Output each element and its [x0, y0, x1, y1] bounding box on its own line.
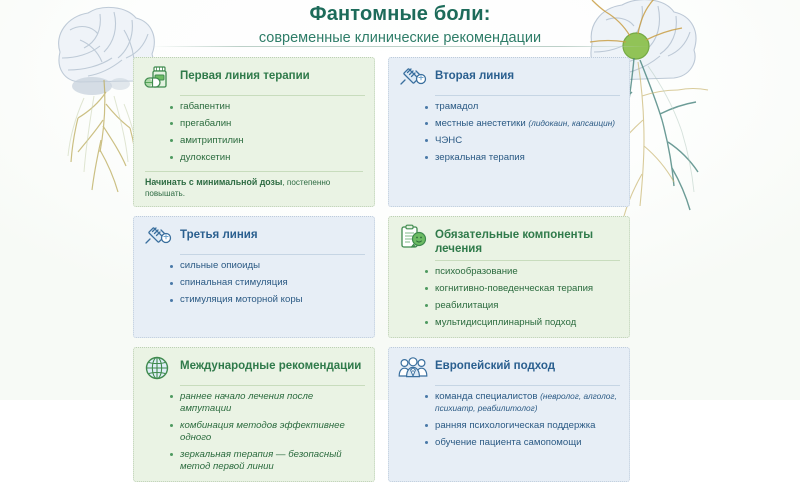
card-title: Третья линия	[180, 224, 258, 242]
card-note: Начинать с минимальной дозы, постепенно …	[143, 177, 365, 198]
list-item: местные анестетики (лидокаин, капсаицин)	[425, 118, 620, 130]
list-item: обучение пациента самопомощи	[425, 437, 620, 449]
list-item: стимуляция моторной коры	[170, 294, 365, 306]
card-title-divider	[435, 95, 620, 96]
card-item-list: раннее начало лечения после ампутации ко…	[143, 391, 365, 473]
card-item-list: команда специалистов (невролог, алголог,…	[398, 391, 620, 449]
card-title-divider	[435, 385, 620, 386]
globe-icon	[143, 355, 173, 381]
card-mandatory-components[interactable]: Обязательные компоненты лечения психообр…	[388, 216, 630, 337]
list-item: спинальная стимуляция	[170, 277, 365, 289]
header-divider	[150, 46, 650, 47]
list-item: прегабалин	[170, 118, 365, 130]
list-item: мультидисциплинарный подход	[425, 317, 620, 329]
list-item-text: местные анестетики	[435, 118, 526, 129]
card-title: Обязательные компоненты лечения	[435, 224, 620, 255]
page-title: Фантомные боли:	[0, 3, 800, 26]
list-item: габапентин	[170, 101, 365, 113]
card-title: Первая линия терапии	[180, 65, 310, 83]
infographic-canvas: Фантомные боли: современные клинические …	[0, 0, 800, 400]
list-item: когнитивно-поведенческая терапия	[425, 283, 620, 295]
list-item: амитриптилин	[170, 135, 365, 147]
list-item: сильные опиоиды	[170, 260, 365, 272]
list-item-detail: (лидокаин, капсаицин)	[528, 118, 615, 128]
list-item: зеркальная терапия	[425, 152, 620, 164]
recommendation-card-grid: Первая линия терапии габапентин прегабал…	[133, 57, 660, 482]
card-header: Третья линия	[143, 224, 365, 250]
syringe-icon	[398, 65, 428, 91]
card-header: Обязательные компоненты лечения	[398, 224, 620, 255]
card-third-line[interactable]: Третья линия сильные опиоиды спинальная …	[133, 216, 375, 337]
medical-team-icon	[398, 355, 428, 381]
card-european-approach[interactable]: Европейский подход команда специалистов …	[388, 347, 630, 482]
list-item: ранняя психологическая поддержка	[425, 420, 620, 432]
card-first-line[interactable]: Первая линия терапии габапентин прегабал…	[133, 57, 375, 207]
card-title: Европейский подход	[435, 355, 555, 373]
card-title-divider	[180, 254, 365, 255]
card-header: Вторая линия	[398, 65, 620, 91]
card-second-line[interactable]: Вторая линия трамадол местные анестетики…	[388, 57, 630, 207]
list-item: трамадол	[425, 101, 620, 113]
pill-bottle-icon	[143, 65, 173, 91]
card-note-emphasis: Начинать с минимальной дозы	[145, 177, 282, 187]
card-title-divider	[435, 260, 620, 261]
card-item-list: сильные опиоиды спинальная стимуляция ст…	[143, 260, 365, 306]
card-title: Вторая линия	[435, 65, 514, 83]
card-item-list: габапентин прегабалин амитриптилин дулок…	[143, 101, 365, 164]
clipboard-psychology-icon	[398, 224, 428, 250]
card-title-divider	[180, 95, 365, 96]
card-title: Международные рекомендации	[180, 355, 361, 373]
list-item: психообразование	[425, 266, 620, 278]
list-item: раннее начало лечения после ампутации	[170, 391, 365, 415]
list-item: зеркальная терапия — безопасный метод пе…	[170, 449, 365, 473]
list-item: команда специалистов (невролог, алголог,…	[425, 391, 620, 415]
list-item: комбинация методов эффективнее одного	[170, 420, 365, 444]
page-header: Фантомные боли: современные клинические …	[0, 3, 800, 47]
card-item-list: трамадол местные анестетики (лидокаин, к…	[398, 101, 620, 164]
list-item-text: команда специалистов	[435, 391, 537, 402]
card-header: Международные рекомендации	[143, 355, 365, 381]
card-note-divider	[145, 171, 363, 172]
card-header: Первая линия терапии	[143, 65, 365, 91]
card-international-guidelines[interactable]: Международные рекомендации раннее начало…	[133, 347, 375, 482]
list-item: дулоксетин	[170, 152, 365, 164]
list-item: реабилитация	[425, 300, 620, 312]
syringe-icon	[143, 224, 173, 250]
card-title-divider	[180, 385, 365, 386]
page-subtitle: современные клинические рекомендации	[0, 30, 800, 47]
list-item: ЧЭНС	[425, 135, 620, 147]
card-item-list: психообразование когнитивно-поведенческа…	[398, 266, 620, 329]
card-header: Европейский подход	[398, 355, 620, 381]
